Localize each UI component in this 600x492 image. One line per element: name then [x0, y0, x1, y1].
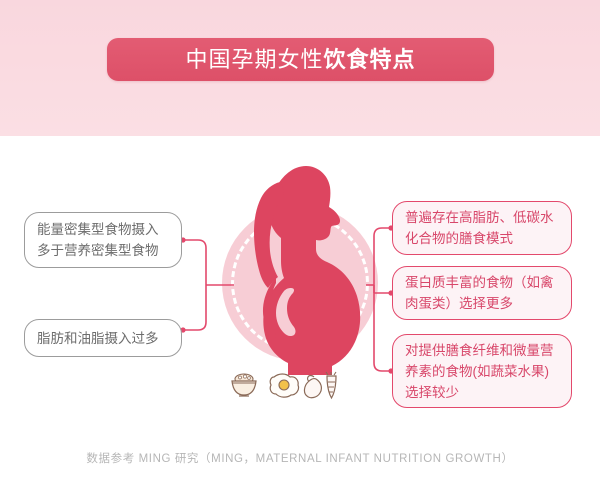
- page-title: 中国孕期女性饮食特点: [185, 49, 415, 71]
- title-banner: 中国孕期女性饮食特点: [107, 38, 494, 81]
- rice-bowl-icon: [232, 374, 256, 396]
- callout-line: 蛋白质丰富的食物（如禽: [405, 272, 559, 293]
- source-footer: 数据参考 MING 研究（MING，MATERNAL INFANT NUTRIT…: [0, 450, 600, 466]
- callout-line: 能量密集型食物摄入: [37, 219, 169, 240]
- callout-line: 养素的食物(如蔬菜水果): [405, 361, 559, 382]
- right-callout-high-fat-low-carb-pattern[interactable]: 普遍存在高脂肪、低碳水 化合物的膳食模式: [392, 201, 572, 255]
- fried-egg-icon: [270, 374, 298, 397]
- left-callout-energy-dense-food[interactable]: 能量密集型食物摄入 多于营养密集型食物: [24, 212, 182, 268]
- callout-line: 对提供膳食纤维和微量营: [405, 340, 559, 361]
- title-light-part: 中国孕期女性: [185, 47, 323, 72]
- right-callout-fiber-micronutrient-food[interactable]: 对提供膳食纤维和微量营 养素的食物(如蔬菜水果) 选择较少: [392, 334, 572, 408]
- infographic-canvas: 中国孕期女性饮食特点: [0, 0, 600, 492]
- callout-line: 多于营养密集型食物: [37, 240, 169, 261]
- right-callout-protein-rich-food[interactable]: 蛋白质丰富的食物（如禽 肉蛋类）选择更多: [392, 266, 572, 320]
- callout-line: 脂肪和油脂摄入过多: [37, 328, 169, 349]
- title-bold-part: 饮食特点: [324, 47, 416, 72]
- callout-line: 化合物的膳食模式: [405, 228, 559, 249]
- callout-line: 选择较少: [405, 382, 559, 403]
- left-callout-excess-fat-oil[interactable]: 脂肪和油脂摄入过多: [24, 319, 182, 357]
- vegetables-icon: [304, 372, 336, 398]
- callout-line: 肉蛋类）选择更多: [405, 293, 559, 314]
- pregnant-woman-silhouette-icon: [210, 160, 390, 375]
- callout-line: 普遍存在高脂肪、低碳水: [405, 207, 559, 228]
- food-icons-row: [228, 368, 344, 402]
